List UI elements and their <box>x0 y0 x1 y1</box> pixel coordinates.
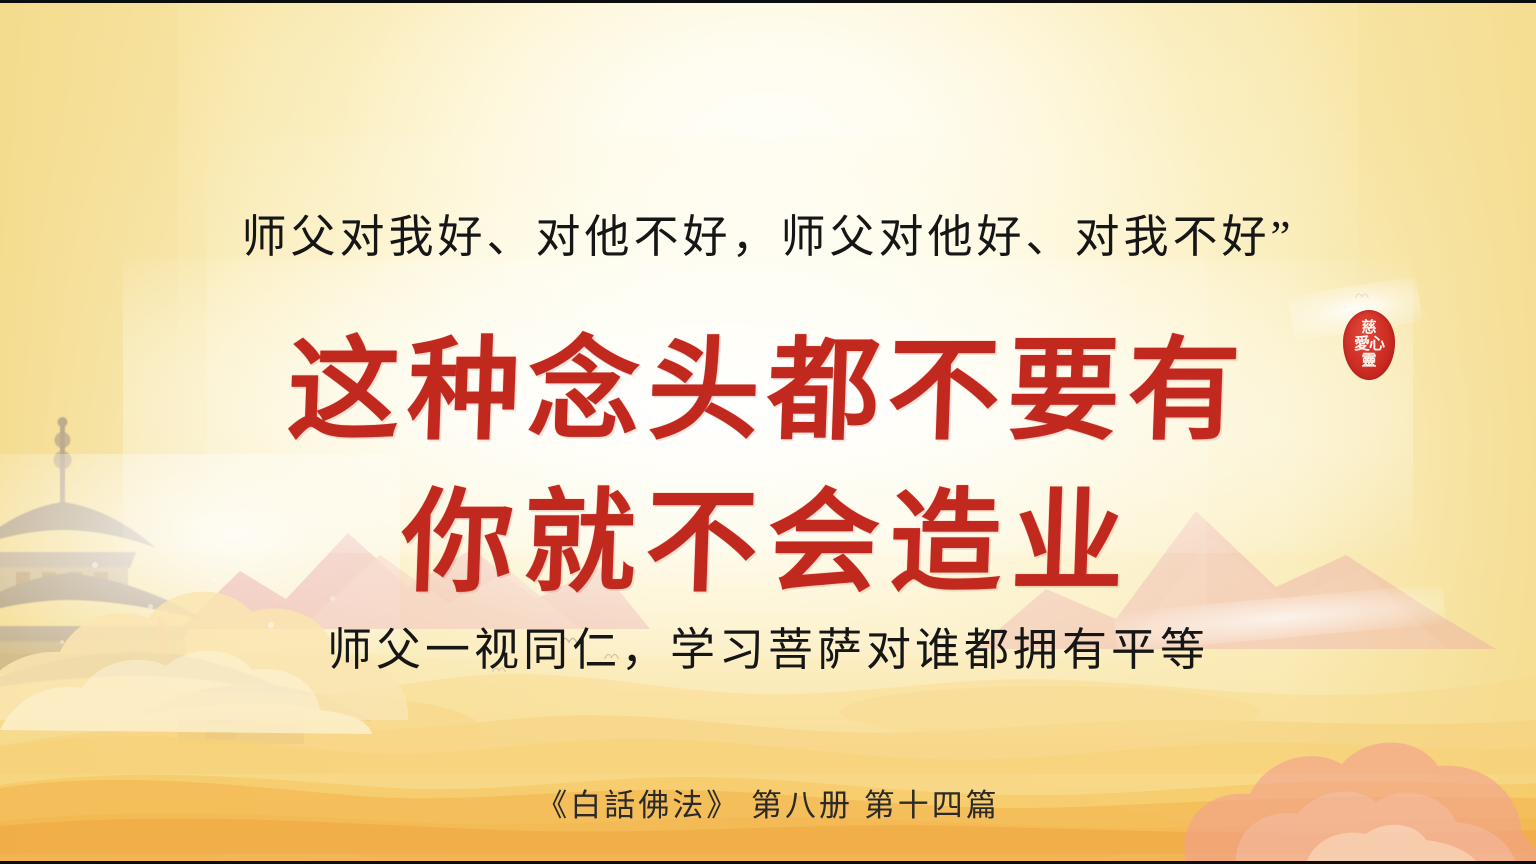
seal-row-1: 慈 <box>1361 321 1376 336</box>
quote-bottom-line: 师父一视同仁，学习菩萨对谁都拥有平等 <box>0 613 1536 678</box>
source-citation: 《白話佛法》 第八册 第十四篇 <box>0 780 1536 825</box>
quote-top-line: 师父对我好、对他不好，师父对他好、对我不好” <box>0 200 1536 265</box>
poster-content: 师父对我好、对他不好，师父对他好、对我不好” 这种念头都不要有 你就不会造业 师… <box>0 0 1536 864</box>
headline-line-2: 你就不会造业 <box>0 452 1536 614</box>
seal-row-2: 愛心 <box>1354 337 1384 353</box>
dharma-quote-poster: 师父对我好、对他不好，师父对他好、对我不好” 这种念头都不要有 你就不会造业 师… <box>0 0 1536 864</box>
headline-line-1: 这种念头都不要有 <box>0 300 1536 462</box>
seal-stamp: 慈 愛心 靈 <box>1343 310 1395 380</box>
seal-text-group: 慈 愛心 靈 <box>1343 310 1395 380</box>
seal-row-3: 靈 <box>1361 354 1376 369</box>
